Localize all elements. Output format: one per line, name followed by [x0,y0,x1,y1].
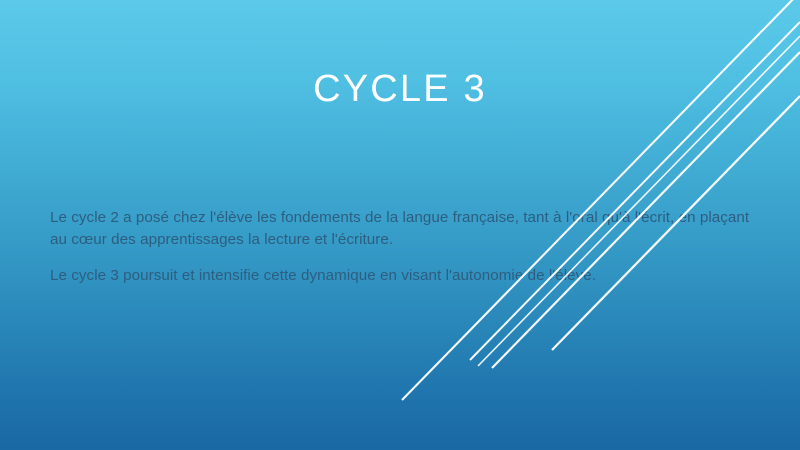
body-paragraph-2: Le cycle 3 poursuit et intensifie cette … [50,265,756,287]
slide-canvas: Cycle 3 Le cycle 2 a posé chez l'élève l… [0,0,800,450]
page-title: Cycle 3 [0,68,800,112]
body-text-block: Le cycle 2 a posé chez l'élève les fonde… [50,207,756,287]
streak-line-1 [402,0,800,400]
body-paragraph-1: Le cycle 2 a posé chez l'élève les fonde… [50,207,756,251]
